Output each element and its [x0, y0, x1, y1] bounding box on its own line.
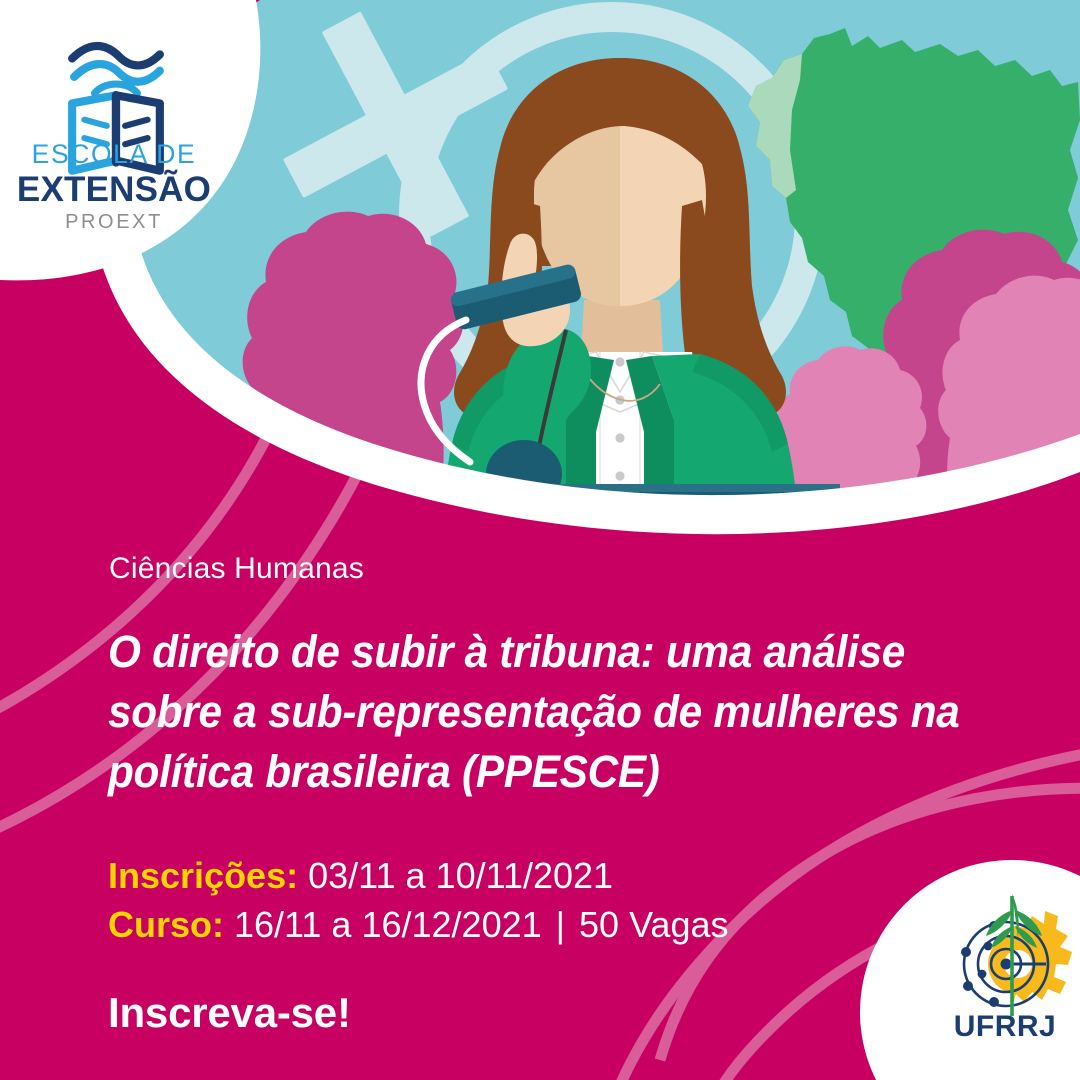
enrollment-label: Inscrições: [108, 855, 298, 896]
course-label: Curso: [108, 904, 224, 945]
enrollment-dates: 03/11 a 10/11/2021 [308, 855, 613, 896]
course-seats: 50 Vagas [579, 904, 728, 945]
info-separator: | [552, 904, 569, 945]
course-category: Ciências Humanas [109, 552, 364, 585]
course-title: O direito de subir à tribuna: uma anális… [108, 622, 982, 802]
proext-brand-wordmark: ESCOLA DE EXTENSÃO PROEXT [0, 140, 228, 235]
course-info-block: Inscrições: 03/11 a 10/11/2021 Curso: 16… [108, 852, 728, 950]
poster-root: ESCOLA DE EXTENSÃO PROEXT Ciências Human… [0, 0, 1080, 1080]
course-row: Curso: 16/11 a 16/12/2021 | 50 Vagas [108, 901, 728, 950]
brand-line-escola-de: ESCOLA DE [0, 140, 228, 170]
course-dates: 16/11 a 16/12/2021 [234, 904, 542, 945]
brand-line-proext: PROEXT [0, 209, 228, 235]
enrollment-row: Inscrições: 03/11 a 10/11/2021 [108, 852, 728, 901]
ufrrj-wordmark: UFRRJ [930, 1012, 1080, 1042]
call-to-action[interactable]: Inscreva-se! [108, 990, 351, 1036]
brand-line-extensao: EXTENSÃO [0, 170, 228, 209]
